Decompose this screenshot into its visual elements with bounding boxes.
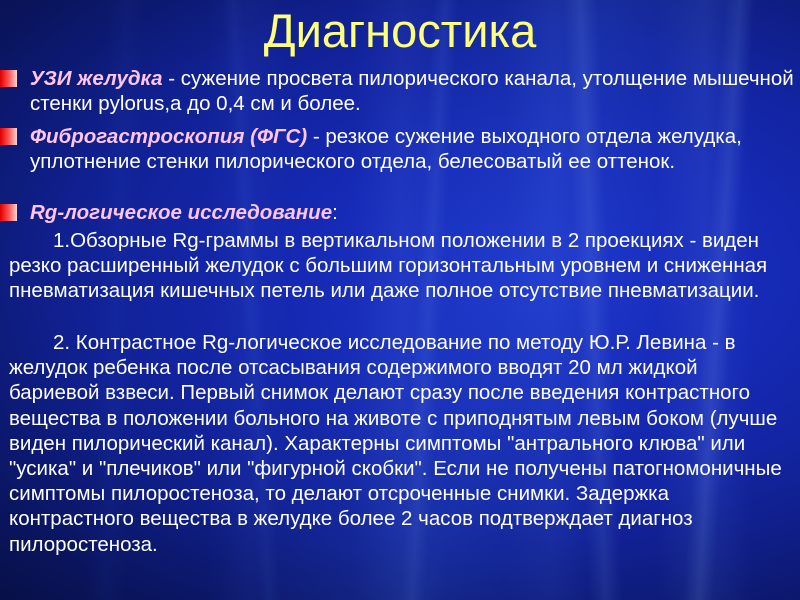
square-bullet-icon [0,70,17,87]
square-bullet-icon [0,128,17,145]
bullet-paragraph: Rg-логическое исследование: [30,200,800,225]
bullet-heading: Rg-логическое исследование [30,201,332,224]
bullet-heading: Фиброгастроскопия (ФГС) [30,125,307,148]
slide-title: Диагностика [0,6,800,55]
bullet-item-fgs: Фиброгастроскопия (ФГС) - резкое сужение… [0,124,800,174]
bullet-item-rg: Rg-логическое исследование: [0,200,800,225]
bullet-heading: УЗИ желудка [30,67,163,90]
presentation-slide: Диагностика УЗИ желудка - сужение просве… [0,0,800,600]
bullet-item-uzi: УЗИ желудка - сужение просвета пилоричес… [0,66,800,116]
numbered-item-1: 1.Обзорные Rg-граммы в вертикальном поло… [9,228,791,304]
bullet-paragraph: УЗИ желудка - сужение просвета пилоричес… [30,66,800,116]
bullet-paragraph: Фиброгастроскопия (ФГС) - резкое сужение… [30,124,800,174]
bullet-body: : [332,201,338,224]
numbered-item-2: 2. Контрастное Rg-логическое исследовани… [9,330,791,557]
numbered-paragraph: 2. Контрастное Rg-логическое исследовани… [9,330,791,557]
numbered-paragraph: 1.Обзорные Rg-граммы в вертикальном поло… [9,228,791,304]
square-bullet-icon [0,204,17,221]
